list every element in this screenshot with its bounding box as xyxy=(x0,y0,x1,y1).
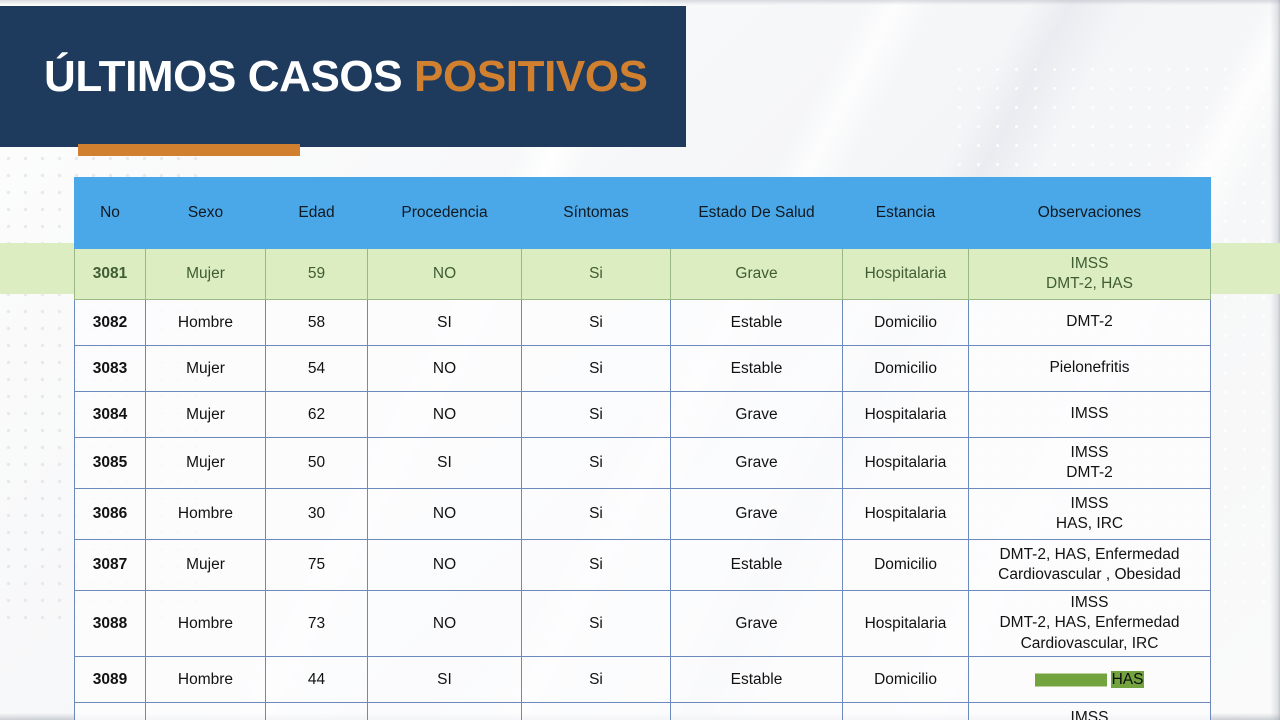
cell-no: 3083 xyxy=(75,346,146,392)
title-accent-underline xyxy=(78,144,300,156)
cell-sexo: Hombre xyxy=(146,591,266,657)
column-header-edad[interactable]: Edad xyxy=(266,178,368,249)
cell-sexo: Mujer xyxy=(146,438,266,489)
cell-no: 3090 xyxy=(75,703,146,720)
cell-observaciones: IMSSDMT-2, HAS, EnfermedadCardiovascular… xyxy=(969,591,1211,657)
cell-no: 3087 xyxy=(75,540,146,591)
column-header-sexo[interactable]: Sexo xyxy=(146,178,266,249)
cell-procedencia: SI xyxy=(368,438,522,489)
title-banner: ÚLTIMOS CASOS POSITIVOS xyxy=(0,6,686,147)
cell-no: 3085 xyxy=(75,438,146,489)
cell-observaciones: IMSSHAS, IRC xyxy=(969,489,1211,540)
cell-sexo: Mujer xyxy=(146,540,266,591)
cell-no: 3084 xyxy=(75,392,146,438)
cell-no: 3081 xyxy=(75,249,146,300)
cell-procedencia: NO xyxy=(368,703,522,720)
cell-estado-de-salud: Grave xyxy=(671,438,843,489)
cell-sexo: Mujer xyxy=(146,249,266,300)
cell-observaciones: IMSS xyxy=(969,392,1211,438)
cell-procedencia: SI xyxy=(368,300,522,346)
column-header-no[interactable]: No xyxy=(75,178,146,249)
table-row[interactable]: 3089Hombre44SISiEstableDomicilioHAS xyxy=(75,657,1211,703)
cell-observaciones: IMSSDMT-2, HAS xyxy=(969,249,1211,300)
observaciones-text: DMT-2, HAS, EnfermedadCardiovascular , O… xyxy=(972,545,1207,586)
table-row[interactable]: 3085Mujer50SISiGraveHospitalariaIMSSDMT-… xyxy=(75,438,1211,489)
cell-estado-de-salud: Estable xyxy=(671,540,843,591)
cell-observaciones: IMSSHAS xyxy=(969,703,1211,720)
cell-no: 3089 xyxy=(75,657,146,703)
observaciones-text: IMSSDMT-2, HAS, EnfermedadCardiovascular… xyxy=(972,593,1207,654)
cell-estancia: Domicilio xyxy=(843,346,969,392)
cell-sintomas: Si xyxy=(522,591,671,657)
table-row[interactable]: 3081Mujer59NOSiGraveHospitalariaIMSSDMT-… xyxy=(75,249,1211,300)
cases-table: No Sexo Edad Procedencia Síntomas Estado… xyxy=(74,177,1211,720)
cell-sintomas: Si xyxy=(522,657,671,703)
cell-sintomas: Si xyxy=(522,438,671,489)
cell-procedencia: SI xyxy=(368,657,522,703)
cell-sexo: Hombre xyxy=(146,703,266,720)
cell-estancia: Hospitalaria xyxy=(843,489,969,540)
cell-sintomas: Si xyxy=(522,703,671,720)
table-row[interactable]: 3083Mujer54NOSiEstableDomicilioPielonefr… xyxy=(75,346,1211,392)
column-header-procedencia[interactable]: Procedencia xyxy=(368,178,522,249)
cell-estado-de-salud: Estable xyxy=(671,657,843,703)
cell-estado-de-salud: Grave xyxy=(671,392,843,438)
cell-sexo: Mujer xyxy=(146,346,266,392)
observaciones-text: Pielonefritis xyxy=(972,358,1207,378)
observaciones-text: IMSSHAS xyxy=(972,708,1207,720)
cell-no: 3088 xyxy=(75,591,146,657)
marker-highlighted-text: HAS xyxy=(1111,671,1145,688)
observaciones-text: IMSSHAS, IRC xyxy=(972,494,1207,535)
observaciones-text: HAS xyxy=(972,670,1207,690)
cell-procedencia: NO xyxy=(368,591,522,657)
cell-estancia: Hospitalaria xyxy=(843,703,969,720)
cell-edad: 56 xyxy=(266,703,368,720)
table-row[interactable]: 3087Mujer75NOSiEstableDomicilioDMT-2, HA… xyxy=(75,540,1211,591)
cell-estancia: Hospitalaria xyxy=(843,249,969,300)
cell-procedencia: NO xyxy=(368,346,522,392)
observaciones-text: IMSSDMT-2, HAS xyxy=(972,254,1207,295)
cell-estancia: Hospitalaria xyxy=(843,392,969,438)
page-title-accent: POSITIVOS xyxy=(414,52,648,101)
cell-estancia: Domicilio xyxy=(843,657,969,703)
table-row[interactable]: 3090Hombre56NOSiGraveHospitalariaIMSSHAS xyxy=(75,703,1211,720)
cell-edad: 54 xyxy=(266,346,368,392)
cell-observaciones: DMT-2 xyxy=(969,300,1211,346)
highlighter-marker-annotation: HAS xyxy=(1035,670,1145,690)
cell-sexo: Mujer xyxy=(146,392,266,438)
cell-sexo: Hombre xyxy=(146,489,266,540)
cell-estado-de-salud: Estable xyxy=(671,346,843,392)
cell-sintomas: Si xyxy=(522,392,671,438)
page-title: ÚLTIMOS CASOS POSITIVOS xyxy=(44,55,648,99)
cell-procedencia: NO xyxy=(368,249,522,300)
column-header-sintomas[interactable]: Síntomas xyxy=(522,178,671,249)
cell-sexo: Hombre xyxy=(146,300,266,346)
cell-estado-de-salud: Grave xyxy=(671,489,843,540)
cell-sexo: Hombre xyxy=(146,657,266,703)
slide-edge-right xyxy=(1270,0,1280,720)
cell-edad: 59 xyxy=(266,249,368,300)
cell-no: 3086 xyxy=(75,489,146,540)
table-body: 3081Mujer59NOSiGraveHospitalariaIMSSDMT-… xyxy=(75,249,1211,720)
table-row[interactable]: 3086Hombre30NOSiGraveHospitalariaIMSSHAS… xyxy=(75,489,1211,540)
marker-bar xyxy=(1035,673,1107,686)
observaciones-text: DMT-2 xyxy=(972,312,1207,332)
cell-edad: 58 xyxy=(266,300,368,346)
table-header: No Sexo Edad Procedencia Síntomas Estado… xyxy=(75,178,1211,249)
observaciones-text: IMSS xyxy=(972,404,1207,424)
slide-edge-top xyxy=(0,0,1280,5)
table-row[interactable]: 3082Hombre58SISiEstableDomicilioDMT-2 xyxy=(75,300,1211,346)
cell-sintomas: Si xyxy=(522,300,671,346)
cell-procedencia: NO xyxy=(368,540,522,591)
cell-estado-de-salud: Grave xyxy=(671,703,843,720)
cell-sintomas: Si xyxy=(522,540,671,591)
table-row[interactable]: 3088Hombre73NOSiGraveHospitalariaIMSSDMT… xyxy=(75,591,1211,657)
cell-procedencia: NO xyxy=(368,489,522,540)
cell-edad: 73 xyxy=(266,591,368,657)
cell-observaciones: HAS xyxy=(969,657,1211,703)
cell-edad: 75 xyxy=(266,540,368,591)
column-header-estado[interactable]: Estado De Salud xyxy=(671,178,843,249)
page-title-main: ÚLTIMOS CASOS xyxy=(44,52,414,101)
column-header-observaciones[interactable]: Observaciones xyxy=(969,178,1211,249)
cell-no: 3082 xyxy=(75,300,146,346)
cell-estancia: Hospitalaria xyxy=(843,591,969,657)
cell-sintomas: Si xyxy=(522,346,671,392)
cell-estancia: Domicilio xyxy=(843,300,969,346)
cell-estancia: Hospitalaria xyxy=(843,438,969,489)
cell-observaciones: Pielonefritis xyxy=(969,346,1211,392)
column-header-estancia[interactable]: Estancia xyxy=(843,178,969,249)
cell-sintomas: Si xyxy=(522,489,671,540)
cell-edad: 62 xyxy=(266,392,368,438)
observaciones-text: IMSSDMT-2 xyxy=(972,443,1207,484)
table-row[interactable]: 3084Mujer62NOSiGraveHospitalariaIMSS xyxy=(75,392,1211,438)
slide-canvas: ÚLTIMOS CASOS POSITIVOS No Sexo Edad Pro… xyxy=(0,0,1280,720)
cell-observaciones: DMT-2, HAS, EnfermedadCardiovascular , O… xyxy=(969,540,1211,591)
table-header-row: No Sexo Edad Procedencia Síntomas Estado… xyxy=(75,178,1211,249)
cell-sintomas: Si xyxy=(522,249,671,300)
cell-estado-de-salud: Grave xyxy=(671,249,843,300)
cell-estancia: Domicilio xyxy=(843,540,969,591)
cell-edad: 30 xyxy=(266,489,368,540)
cell-edad: 44 xyxy=(266,657,368,703)
cell-estado-de-salud: Grave xyxy=(671,591,843,657)
cell-edad: 50 xyxy=(266,438,368,489)
cell-observaciones: IMSSDMT-2 xyxy=(969,438,1211,489)
cell-estado-de-salud: Estable xyxy=(671,300,843,346)
cell-procedencia: NO xyxy=(368,392,522,438)
